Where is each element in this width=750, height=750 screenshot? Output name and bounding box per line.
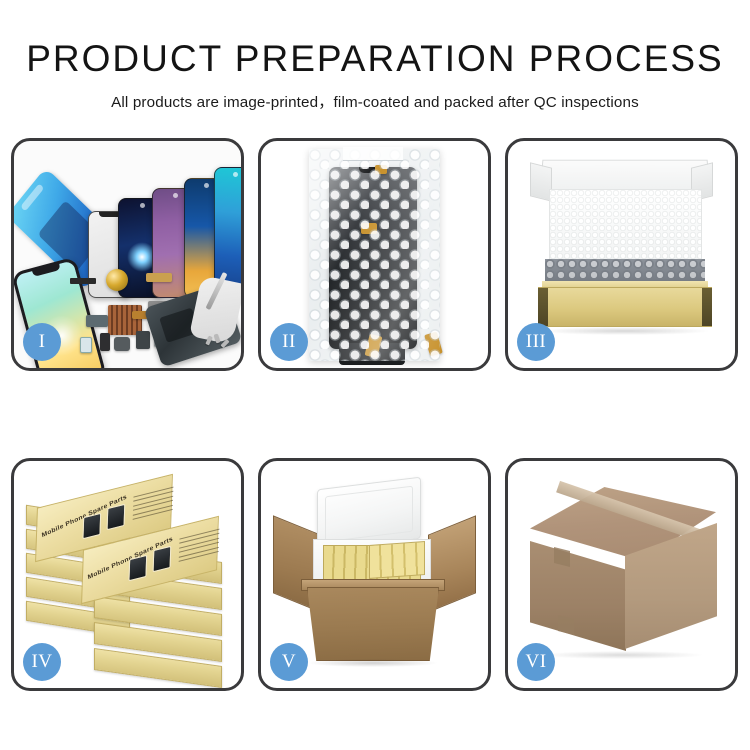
page-subtitle: All products are image-printed，film-coat… [0, 90, 750, 112]
box-window-graphic [153, 546, 172, 573]
tape-patch [558, 615, 574, 635]
carton-front-face [307, 587, 439, 661]
step-panel-2: II [258, 138, 491, 371]
screws-group [207, 334, 231, 350]
page-title: PRODUCT PREPARATION PROCESS [0, 40, 750, 79]
battery-connector-part [136, 331, 150, 349]
sim-tray-part [80, 337, 92, 353]
step-panel-1: I [11, 138, 244, 371]
flex-cable-part [146, 273, 172, 282]
box-window-graphic [82, 513, 101, 540]
step-panel-5: V [258, 458, 491, 691]
header: PRODUCT PREPARATION PROCESS All products… [0, 0, 750, 112]
vibration-motor-part [106, 269, 128, 291]
packed-retail-boxes [369, 541, 425, 579]
drop-shadow [542, 327, 708, 335]
step-badge-6: VI [517, 643, 555, 681]
product-preparation-infographic: PRODUCT PREPARATION PROCESS All products… [0, 0, 750, 750]
step-panel-6: VI [505, 458, 738, 691]
box-window-graphic [107, 504, 126, 531]
plastic-sheen [309, 149, 440, 361]
box-spec-lines [179, 529, 220, 565]
small-component-part [100, 333, 110, 351]
step-panel-3: III [505, 138, 738, 371]
step-badge-4: IV [23, 643, 61, 681]
drop-shadow [542, 651, 702, 659]
speaker-module-part [114, 337, 130, 351]
speaker-part [70, 278, 96, 284]
step-badge-2: II [270, 323, 308, 361]
step-badge-5: V [270, 643, 308, 681]
box-stack: Mobile Phone Spare Parts Mobile Phone Sp… [20, 475, 236, 675]
bubble-wrap-bag [309, 149, 440, 361]
step-badge-1: I [23, 323, 61, 361]
box-window-graphic [128, 555, 147, 582]
camera-module-part [86, 315, 108, 327]
step-panel-4: Mobile Phone Spare Parts Mobile Phone Sp… [11, 458, 244, 691]
step-badge-3: III [517, 323, 555, 361]
drop-shadow [309, 659, 437, 667]
box-spec-lines [133, 487, 174, 523]
process-step-grid: I II [11, 138, 739, 691]
kraft-box-front [538, 287, 712, 327]
white-foam-sheet [549, 189, 702, 261]
carton-left-face [530, 541, 626, 651]
bag-seal [343, 147, 403, 161]
